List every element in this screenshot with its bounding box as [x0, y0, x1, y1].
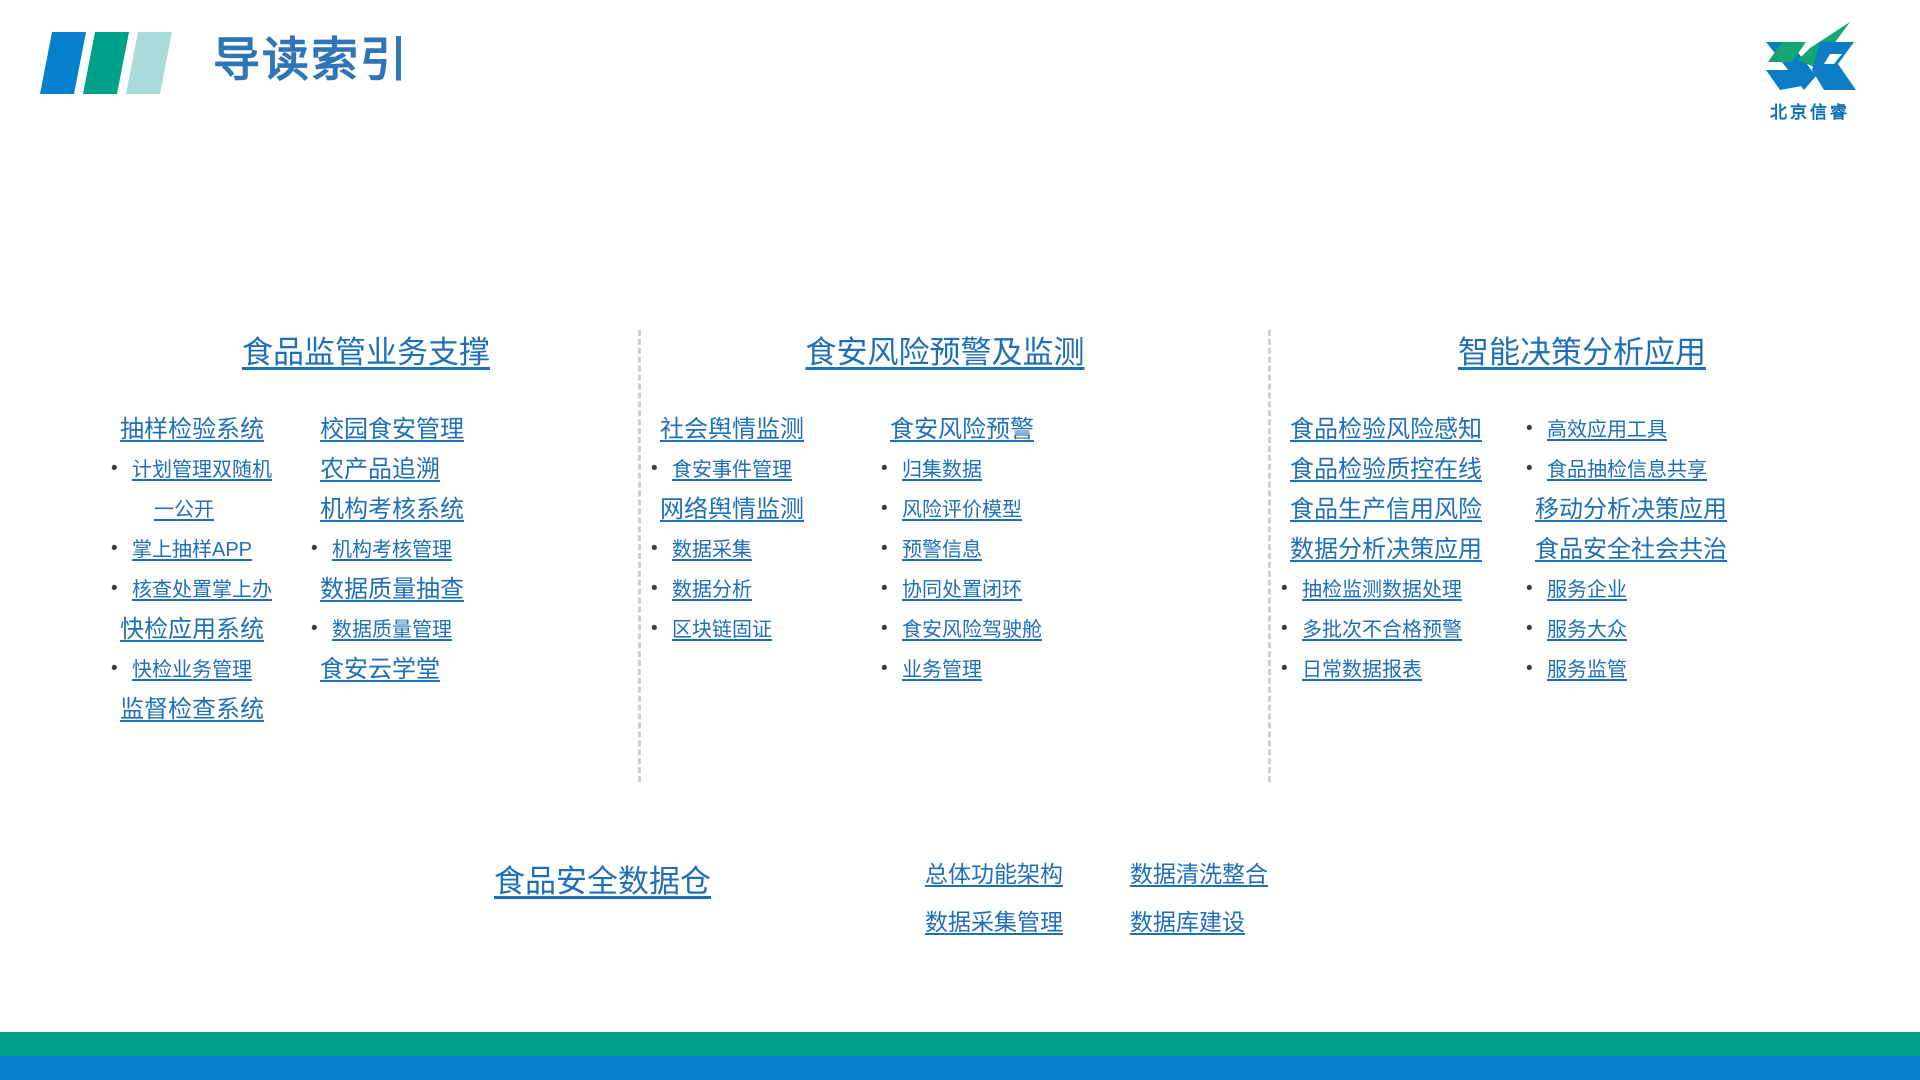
item-label: 协同处置闭环 — [902, 579, 1022, 601]
list-item[interactable]: 协同处置闭环 — [890, 570, 1140, 610]
item-label: 食安风险预警 — [890, 416, 1034, 443]
item-label: 数据分析决策应用 — [1290, 536, 1482, 563]
item-label: 食品检验质控在线 — [1290, 456, 1482, 483]
list-item[interactable]: 服务企业 — [1535, 570, 1785, 610]
list-item[interactable]: 归集数据 — [890, 450, 1140, 490]
subcolumn-a: 抽样检验系统 计划管理双随机 一公开 掌上抽样APP 核查处置掌上办 快检应用系… — [120, 410, 320, 730]
column-risk-warning: 食安风险预警及监测 社会舆情监测 食安事件管理 网络舆情监测 数据采集 数据分析… — [660, 330, 1240, 690]
item-label: 预警信息 — [902, 539, 982, 561]
column-subcolumns: 抽样检验系统 计划管理双随机 一公开 掌上抽样APP 核查处置掌上办 快检应用系… — [120, 410, 620, 730]
data-warehouse-links: 总体功能架构 数据清洗整合 数据采集管理 数据库建设 — [925, 850, 1268, 946]
list-item[interactable]: 数据采集管理 — [925, 898, 1130, 946]
item-label: 数据分析 — [672, 579, 752, 601]
item-label: 数据采集管理 — [925, 909, 1063, 935]
item-label: 监督检查系统 — [120, 696, 264, 723]
item-label: 农产品追溯 — [320, 456, 440, 483]
accent-bar-blue — [40, 32, 86, 94]
item-label: 数据清洗整合 — [1130, 861, 1268, 887]
item-label: 风险评价模型 — [902, 499, 1022, 521]
item-label: 日常数据报表 — [1302, 659, 1422, 681]
subcolumn-b: 食安风险预警 归集数据 风险评价模型 预警信息 协同处置闭环 食安风险驾驶舱 业… — [890, 410, 1140, 690]
list-item[interactable]: 一公开 — [120, 490, 320, 530]
column-food-supervision: 食品监管业务支撑 抽样检验系统 计划管理双随机 一公开 掌上抽样APP 核查处置… — [120, 330, 620, 730]
column-title-text[interactable]: 食品监管业务支撑 — [242, 335, 490, 370]
header-accent-bars — [46, 32, 196, 94]
list-item[interactable]: 食品安全社会共治 — [1535, 530, 1785, 570]
item-label: 业务管理 — [902, 659, 982, 681]
item-label: 多批次不合格预警 — [1302, 619, 1462, 641]
column-title: 食品监管业务支撑 — [120, 330, 620, 376]
list-item[interactable]: 服务监管 — [1535, 650, 1785, 690]
list-item[interactable]: 服务大众 — [1535, 610, 1785, 650]
list-item[interactable]: 食安事件管理 — [660, 450, 890, 490]
list-item[interactable]: 快检业务管理 — [120, 650, 320, 690]
item-label: 社会舆情监测 — [660, 416, 804, 443]
list-item[interactable]: 食安云学堂 — [320, 650, 550, 690]
list-item[interactable]: 数据分析决策应用 — [1290, 530, 1535, 570]
list-item[interactable]: 数据采集 — [660, 530, 890, 570]
item-label: 食品抽检信息共享 — [1547, 459, 1707, 481]
column-title: 食安风险预警及监测 — [660, 330, 1240, 376]
list-item[interactable]: 监督检查系统 — [120, 690, 320, 730]
list-item[interactable]: 机构考核系统 — [320, 490, 550, 530]
list-item[interactable]: 业务管理 — [890, 650, 1140, 690]
list-item[interactable]: 日常数据报表 — [1290, 650, 1535, 690]
list-item[interactable]: 食安风险预警 — [890, 410, 1140, 450]
xr-logo-icon — [1746, 20, 1874, 96]
item-label: 数据质量管理 — [332, 619, 452, 641]
accent-bar-teal — [83, 32, 129, 94]
item-label: 机构考核系统 — [320, 496, 464, 523]
item-label: 网络舆情监测 — [660, 496, 804, 523]
column-subcolumns: 社会舆情监测 食安事件管理 网络舆情监测 数据采集 数据分析 区块链固证 食安风… — [660, 410, 1240, 690]
item-label: 高效应用工具 — [1547, 419, 1667, 441]
item-label: 食品检验风险感知 — [1290, 416, 1482, 443]
item-label: 总体功能架构 — [925, 861, 1063, 887]
item-label: 移动分析决策应用 — [1535, 496, 1727, 523]
brand-logo-text: 北京信睿 — [1746, 98, 1874, 123]
list-item[interactable]: 总体功能架构 — [925, 850, 1130, 898]
accent-bar-light-teal — [126, 32, 172, 94]
list-item[interactable]: 数据质量抽查 — [320, 570, 550, 610]
list-item[interactable]: 计划管理双随机 — [120, 450, 320, 490]
list-item[interactable]: 机构考核管理 — [320, 530, 550, 570]
list-item[interactable]: 数据库建设 — [1130, 898, 1268, 946]
list-item[interactable]: 风险评价模型 — [890, 490, 1140, 530]
list-item[interactable]: 多批次不合格预警 — [1290, 610, 1535, 650]
slide-header: 导读索引 北京信睿 — [0, 0, 1920, 130]
list-item[interactable]: 掌上抽样APP — [120, 530, 320, 570]
page-title: 导读索引 — [213, 28, 409, 92]
column-title: 智能决策分析应用 — [1290, 330, 1890, 376]
list-item[interactable]: 农产品追溯 — [320, 450, 550, 490]
list-item[interactable]: 食品检验风险感知 — [1290, 410, 1535, 450]
list-item[interactable]: 抽样检验系统 — [120, 410, 320, 450]
subcolumn-a: 社会舆情监测 食安事件管理 网络舆情监测 数据采集 数据分析 区块链固证 — [660, 410, 890, 690]
subcolumn-a: 食品检验风险感知 食品检验质控在线 食品生产信用风险 数据分析决策应用 抽检监测… — [1290, 410, 1535, 690]
item-label: 机构考核管理 — [332, 539, 452, 561]
item-label: 服务大众 — [1547, 619, 1627, 641]
item-label: 快检业务管理 — [132, 659, 252, 681]
item-label: 服务监管 — [1547, 659, 1627, 681]
list-item[interactable]: 食品抽检信息共享 — [1535, 450, 1785, 490]
item-label: 区块链固证 — [672, 619, 772, 641]
item-label: 食品生产信用风险 — [1290, 496, 1482, 523]
item-label: 食品安全社会共治 — [1535, 536, 1727, 563]
list-item[interactable]: 区块链固证 — [660, 610, 890, 650]
list-item[interactable]: 数据分析 — [660, 570, 890, 610]
subcolumn-b: 高效应用工具 食品抽检信息共享 移动分析决策应用 食品安全社会共治 服务企业 服… — [1535, 410, 1785, 690]
item-label: 校园食安管理 — [320, 416, 464, 443]
column-title-text[interactable]: 智能决策分析应用 — [1458, 335, 1706, 370]
list-item[interactable]: 网络舆情监测 — [660, 490, 890, 530]
list-item[interactable]: 抽检监测数据处理 — [1290, 570, 1535, 610]
data-warehouse-title-text[interactable]: 食品安全数据仓 — [494, 864, 711, 899]
item-label: 数据采集 — [672, 539, 752, 561]
item-label: 快检应用系统 — [120, 616, 264, 643]
item-label: 服务企业 — [1547, 579, 1627, 601]
column-smart-decision: 智能决策分析应用 食品检验风险感知 食品检验质控在线 食品生产信用风险 数据分析… — [1290, 330, 1890, 690]
item-label: 归集数据 — [902, 459, 982, 481]
item-label: 掌上抽样APP — [132, 539, 252, 561]
list-item[interactable]: 数据质量管理 — [320, 610, 550, 650]
column-subcolumns: 食品检验风险感知 食品检验质控在线 食品生产信用风险 数据分析决策应用 抽检监测… — [1290, 410, 1890, 690]
item-label: 食安事件管理 — [672, 459, 792, 481]
item-label: 数据质量抽查 — [320, 576, 464, 603]
item-label: 核查处置掌上办 — [132, 579, 272, 601]
item-label: 抽样检验系统 — [120, 416, 264, 443]
list-item[interactable]: 食品生产信用风险 — [1290, 490, 1535, 530]
list-item[interactable]: 移动分析决策应用 — [1535, 490, 1785, 530]
bottom-section: 食品安全数据仓 总体功能架构 数据清洗整合 数据采集管理 数据库建设 — [0, 840, 1920, 970]
list-item[interactable]: 预警信息 — [890, 530, 1140, 570]
list-item[interactable]: 社会舆情监测 — [660, 410, 890, 450]
brand-logo: 北京信睿 — [1746, 20, 1874, 124]
content-columns: 食品监管业务支撑 抽样检验系统 计划管理双随机 一公开 掌上抽样APP 核查处置… — [0, 330, 1920, 780]
item-label: 食安风险驾驶舱 — [902, 619, 1042, 641]
list-item[interactable]: 高效应用工具 — [1535, 410, 1785, 450]
column-title-text[interactable]: 食安风险预警及监测 — [806, 335, 1085, 370]
item-label: 抽检监测数据处理 — [1302, 579, 1462, 601]
list-item[interactable]: 食安风险驾驶舱 — [890, 610, 1140, 650]
data-warehouse-title: 食品安全数据仓 — [494, 858, 711, 906]
item-label: 数据库建设 — [1130, 909, 1245, 935]
item-label: 一公开 — [154, 499, 214, 521]
item-label: 计划管理双随机 — [132, 459, 272, 481]
list-item[interactable]: 校园食安管理 — [320, 410, 550, 450]
list-item[interactable]: 快检应用系统 — [120, 610, 320, 650]
subcolumn-b: 校园食安管理 农产品追溯 机构考核系统 机构考核管理 数据质量抽查 数据质量管理… — [320, 410, 550, 730]
footer-bar-green — [0, 1032, 1920, 1056]
list-item[interactable]: 食品检验质控在线 — [1290, 450, 1535, 490]
list-item[interactable]: 数据清洗整合 — [1130, 850, 1268, 898]
footer-bar-blue — [0, 1056, 1920, 1080]
list-item[interactable]: 核查处置掌上办 — [120, 570, 320, 610]
item-label: 食安云学堂 — [320, 656, 440, 683]
